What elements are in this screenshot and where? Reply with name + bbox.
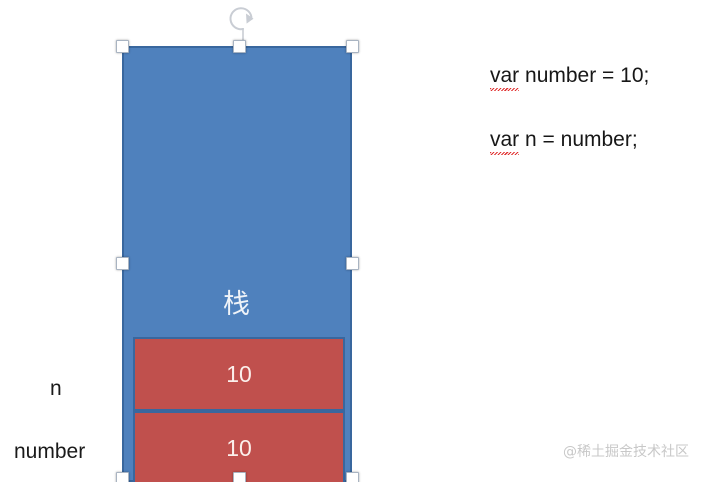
watermark: @稀土掘金技术社区 [563, 441, 689, 461]
code-line-1-rest: number = 10; [519, 64, 649, 87]
code-line-1-keyword: var [490, 64, 519, 88]
value-box-n-text: 10 [226, 361, 252, 388]
resize-handle-top-center[interactable] [233, 40, 246, 53]
stack-label: 栈 [124, 291, 350, 318]
variable-label-n: n [50, 377, 62, 401]
slide-canvas: 栈 10 10 n number var number = 10; var n … [0, 0, 712, 482]
variable-label-number: number [14, 440, 85, 464]
code-line-1[interactable]: var number = 10; [490, 64, 649, 88]
code-line-2-keyword: var [490, 128, 519, 152]
value-box-number-text: 10 [226, 435, 252, 462]
resize-handle-bottom-right[interactable] [346, 472, 359, 482]
value-box-n[interactable]: 10 [133, 337, 345, 411]
code-line-2[interactable]: var n = number; [490, 128, 638, 152]
stack-shape[interactable]: 栈 10 10 [122, 46, 352, 482]
resize-handle-middle-right[interactable] [346, 257, 359, 270]
resize-handle-middle-left[interactable] [116, 257, 129, 270]
resize-handle-top-right[interactable] [346, 40, 359, 53]
resize-handle-bottom-left[interactable] [116, 472, 129, 482]
resize-handle-bottom-center[interactable] [233, 472, 246, 482]
resize-handle-top-left[interactable] [116, 40, 129, 53]
code-line-2-rest: n = number; [519, 128, 637, 151]
